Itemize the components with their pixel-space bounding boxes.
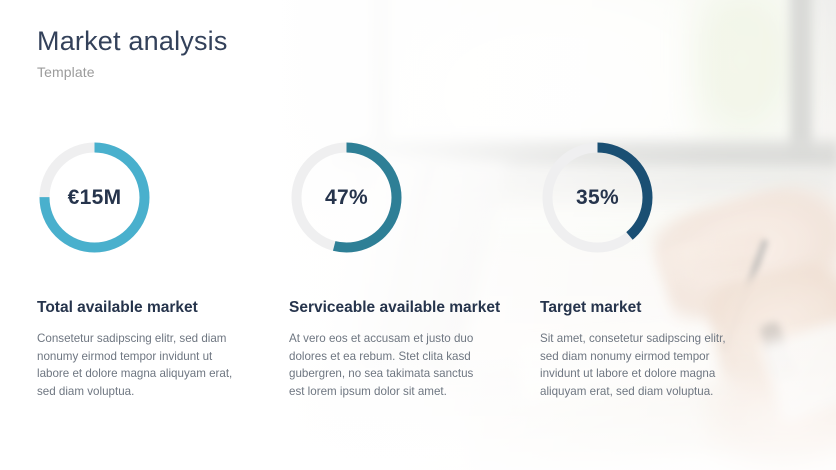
column-body-text: Consetetur sadipscing elitr, sed diam no… bbox=[37, 330, 237, 400]
column-heading: Serviceable available market bbox=[289, 297, 514, 318]
donut-chart-serviceable-available-market: 47% bbox=[289, 140, 404, 255]
slide-root: Market analysis Template €15M Total avai… bbox=[0, 0, 836, 470]
market-column-target: 35% Target market Sit amet, consetetur s… bbox=[540, 140, 780, 400]
column-body-text: Sit amet, consetetur sadipscing elitr, s… bbox=[540, 330, 740, 400]
donut-value-label: €15M bbox=[37, 140, 152, 255]
donut-value-label: 47% bbox=[289, 140, 404, 255]
page-subtitle: Template bbox=[37, 64, 228, 80]
page-title: Market analysis bbox=[37, 24, 228, 58]
slide-header: Market analysis Template bbox=[37, 24, 228, 80]
donut-chart-target-market: 35% bbox=[540, 140, 655, 255]
donut-value-label: 35% bbox=[540, 140, 655, 255]
market-column-serviceable-available: 47% Serviceable available market At vero… bbox=[289, 140, 529, 400]
slide-content: Market analysis Template €15M Total avai… bbox=[0, 0, 836, 470]
market-column-total-available: €15M Total available market Consetetur s… bbox=[37, 140, 277, 400]
donut-chart-total-available-market: €15M bbox=[37, 140, 152, 255]
column-heading: Total available market bbox=[37, 297, 252, 318]
column-heading: Target market bbox=[540, 297, 755, 318]
column-body-text: At vero eos et accusam et justo duo dolo… bbox=[289, 330, 489, 400]
